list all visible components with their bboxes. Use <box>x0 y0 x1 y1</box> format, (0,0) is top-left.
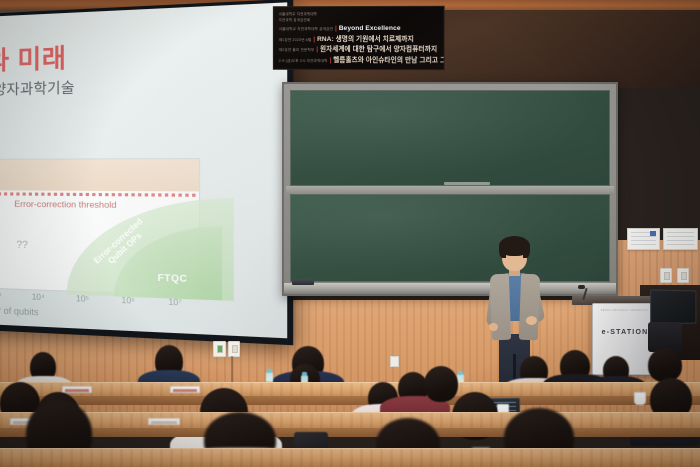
slide-surface: 현재와 미래 tum) 시대의 양자과학기술 simulatable Error… <box>0 2 287 338</box>
notice-badge <box>650 231 656 236</box>
blackboard-eraser <box>292 279 314 285</box>
name-card-strip <box>173 389 197 392</box>
speaker-left-hand <box>489 323 498 331</box>
outlet-conduit <box>231 356 233 384</box>
banner-row-divider: | <box>313 36 315 45</box>
chart-x-axis-label: Number of qubits <box>0 304 39 317</box>
banner-row: 제1강연 2023년 6월 | RNA: 생명의 기원에서 치료제까지 <box>279 34 439 45</box>
bottle-cap <box>302 372 307 376</box>
name-card <box>170 386 200 393</box>
slide-subtitle: tum) 시대의 양자과학기술 <box>0 77 75 101</box>
banner-row: 서울대학교 자연과학대학 공개강연 | Beyond Excellence <box>279 24 439 35</box>
podium-top-label: SEOUL NATIONAL UNIVERSITY <box>599 309 651 313</box>
outlet-indicator <box>217 345 223 353</box>
blackboard-panel-top <box>290 90 610 186</box>
blackboard <box>282 82 618 296</box>
desk-front-panel <box>0 428 700 437</box>
banner-row-divider: | <box>335 25 337 34</box>
name-card-strip <box>151 421 177 424</box>
chart-label-ftqc: FTQC <box>158 272 188 284</box>
blackboard-divider-rail <box>286 186 614 194</box>
speaker-jacket-right <box>519 274 540 341</box>
speaker-hair-side-right <box>523 243 530 258</box>
speaker-hair-side-left <box>499 243 506 258</box>
podium-monitor <box>650 289 696 324</box>
desk-front-panel <box>0 396 700 405</box>
chart-threshold-label: Error-correction threshold <box>14 199 116 210</box>
light-switch-plate[interactable] <box>660 268 672 283</box>
chart-label-unknown: ?? <box>16 240 27 252</box>
lecture-hall-photo: 현재와 미래 tum) 시대의 양자과학기술 simulatable Error… <box>0 0 700 467</box>
audience-head <box>648 348 682 382</box>
chart-x-tick: 10⁷ <box>168 297 181 307</box>
slide-title: 현재와 미래 <box>0 38 67 79</box>
wall-plate <box>390 356 399 367</box>
chart-x-tick: 10⁴ <box>32 292 45 302</box>
banner-row-title: RNA: 생명의 기원에서 치료제까지 <box>317 34 414 44</box>
banner-row-date: 제2강연 물리 천문학부 <box>279 46 315 55</box>
quantum-roadmap-chart: simulatable Error-correction threshold E… <box>0 158 200 296</box>
switch-toggle[interactable] <box>681 272 687 280</box>
speaker-right-hand <box>526 316 537 325</box>
power-outlet-plate[interactable] <box>213 341 226 357</box>
banner-row-date: 제1강연 2023년 6월 <box>279 36 312 45</box>
banner-row-divider: | <box>330 56 332 65</box>
power-outlet-plate[interactable] <box>228 341 240 357</box>
chart-x-tick: 10³ <box>0 291 1 301</box>
banner-row-title: 헬름홀츠와 아인슈타인의 만남 그리고 그 이후 <box>333 55 444 65</box>
banner-row-divider: | <box>316 46 318 55</box>
chart-x-tick: 10⁵ <box>76 294 89 304</box>
banner-row-title: Beyond Excellence <box>339 24 401 34</box>
outlet-socket <box>232 345 238 353</box>
desk-row <box>0 448 700 467</box>
paper-cup <box>634 392 646 405</box>
banner-row-date: 서울대학교 자연과학대학 공개강연 <box>279 25 333 34</box>
chart-classically-simulatable-band <box>0 159 199 191</box>
audience-head <box>424 366 458 402</box>
notice-text-lines <box>667 232 694 246</box>
banner-row-date: 2-9 (금)오후 2시 자연과학대학 <box>279 56 328 66</box>
chart-threshold-dotted-line <box>0 192 199 197</box>
wall-notice-sheet <box>663 228 698 250</box>
chalk-smudge <box>444 182 490 185</box>
banner-row: 2-9 (금)오후 2시 자연과학대학 | 헬름홀츠와 아인슈타인의 만남 그리… <box>279 55 439 66</box>
chalk-tray <box>284 283 616 294</box>
switch-toggle[interactable] <box>664 272 670 280</box>
banner-row-title: 원자세계에 대한 탐구에서 양자컴퓨터까지 <box>320 45 437 55</box>
chart-x-tick: 10⁶ <box>121 296 134 306</box>
bottle-cap <box>267 369 272 373</box>
event-banner-sign: 서울대학교 자연과학대학 자연과학 공개강연회 서울대학교 자연과학대학 공개강… <box>273 6 445 71</box>
light-switch-plate[interactable] <box>677 268 689 283</box>
name-card-strip <box>65 389 89 392</box>
wall-notice-sheet <box>627 228 660 250</box>
microphone-head <box>578 285 585 289</box>
bottle-cap <box>458 371 463 375</box>
name-card <box>148 418 180 425</box>
banner-row: 제2강연 물리 천문학부 | 원자세계에 대한 탐구에서 양자컴퓨터까지 <box>279 45 439 56</box>
name-card <box>62 386 92 393</box>
blackboard-panel-bottom <box>290 194 610 282</box>
projection-screen: 현재와 미래 tum) 시대의 양자과학기술 simulatable Error… <box>0 0 293 345</box>
